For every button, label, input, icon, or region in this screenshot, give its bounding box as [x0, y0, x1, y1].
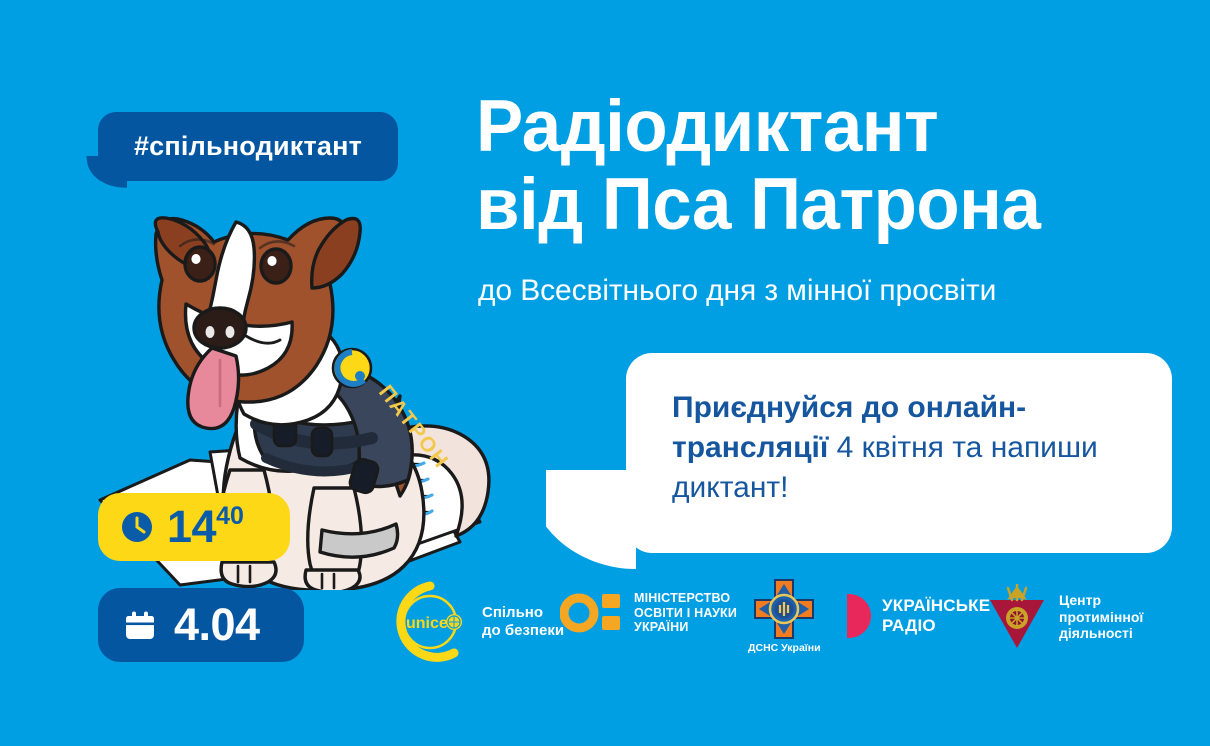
partner-logo-ministry-education[interactable]: МІНІСТЕРСТВО ОСВІТИ І НАУКИ УКРАЇНИ: [560, 590, 737, 636]
page-title: Радіодиктант від Пса Патрона: [476, 92, 1176, 240]
headline-subtitle: до Всесвітнього дня з мінної просвіти: [478, 274, 996, 308]
date-badge[interactable]: 4.04: [98, 588, 304, 662]
callout-bubble-tail: [546, 470, 636, 569]
dsns-emblem: [753, 578, 815, 640]
ministry-caption-line1: МІНІСТЕРСТВО: [634, 591, 737, 606]
partner-logo-dsns[interactable]: ДСНС України: [748, 578, 821, 654]
partner-logo-mine-action-center[interactable]: Центр протимінної діяльності: [986, 584, 1143, 650]
vest-unicef-badge: [333, 349, 371, 387]
poster-canvas: ПАТРОН #спільнодиктант Радіодиктант від …: [0, 0, 1210, 746]
ministry-caption-line2: ОСВІТИ І НАУКИ: [634, 606, 737, 621]
ministry-caption-line3: УКРАЇНИ: [634, 620, 737, 635]
calendar-icon: [122, 607, 158, 643]
radio-caption-line2: РАДІО: [882, 616, 990, 636]
partner-logo-ukrainian-radio[interactable]: УКРАЇНСЬКЕ РАДІО: [845, 592, 990, 640]
headline-line-1: Радіодиктант: [476, 92, 1155, 162]
mine-center-caption-line3: діяльності: [1059, 625, 1143, 642]
ukrainian-radio-logo: [845, 592, 871, 640]
ministry-caption: МІНІСТЕРСТВО ОСВІТИ І НАУКИ УКРАЇНИ: [634, 591, 737, 635]
date-badge-label: 4.04: [174, 599, 260, 651]
time-minutes: 40: [216, 502, 244, 530]
mine-center-caption-line2: протимінної: [1059, 609, 1143, 626]
headline-line-2: від Пса Патрона: [476, 170, 1155, 240]
time-hours: 14: [167, 501, 216, 552]
mine-center-caption: Центр протимінної діяльності: [1059, 592, 1143, 642]
mine-center-caption-line1: Центр: [1059, 592, 1143, 609]
dsns-caption-line1: ДСНС України: [748, 642, 821, 654]
dsns-caption: ДСНС України: [748, 642, 821, 654]
time-badge-label: 1440: [167, 501, 244, 553]
callout-text: Приєднуйся до онлайн-трансляції 4 квітня…: [672, 388, 1142, 509]
time-badge[interactable]: 1440: [98, 493, 290, 561]
radio-caption-line1: УКРАЇНСЬКЕ: [882, 596, 990, 616]
radio-caption: УКРАЇНСЬКЕ РАДІО: [882, 596, 990, 636]
ministry-of-education-logo: [560, 590, 622, 636]
unicef-caption-line2: до безпеки: [482, 622, 564, 640]
mine-action-center-logo: [986, 584, 1048, 650]
clock-icon: [120, 510, 154, 544]
hashtag-label: #спільнодиктант: [134, 131, 362, 162]
